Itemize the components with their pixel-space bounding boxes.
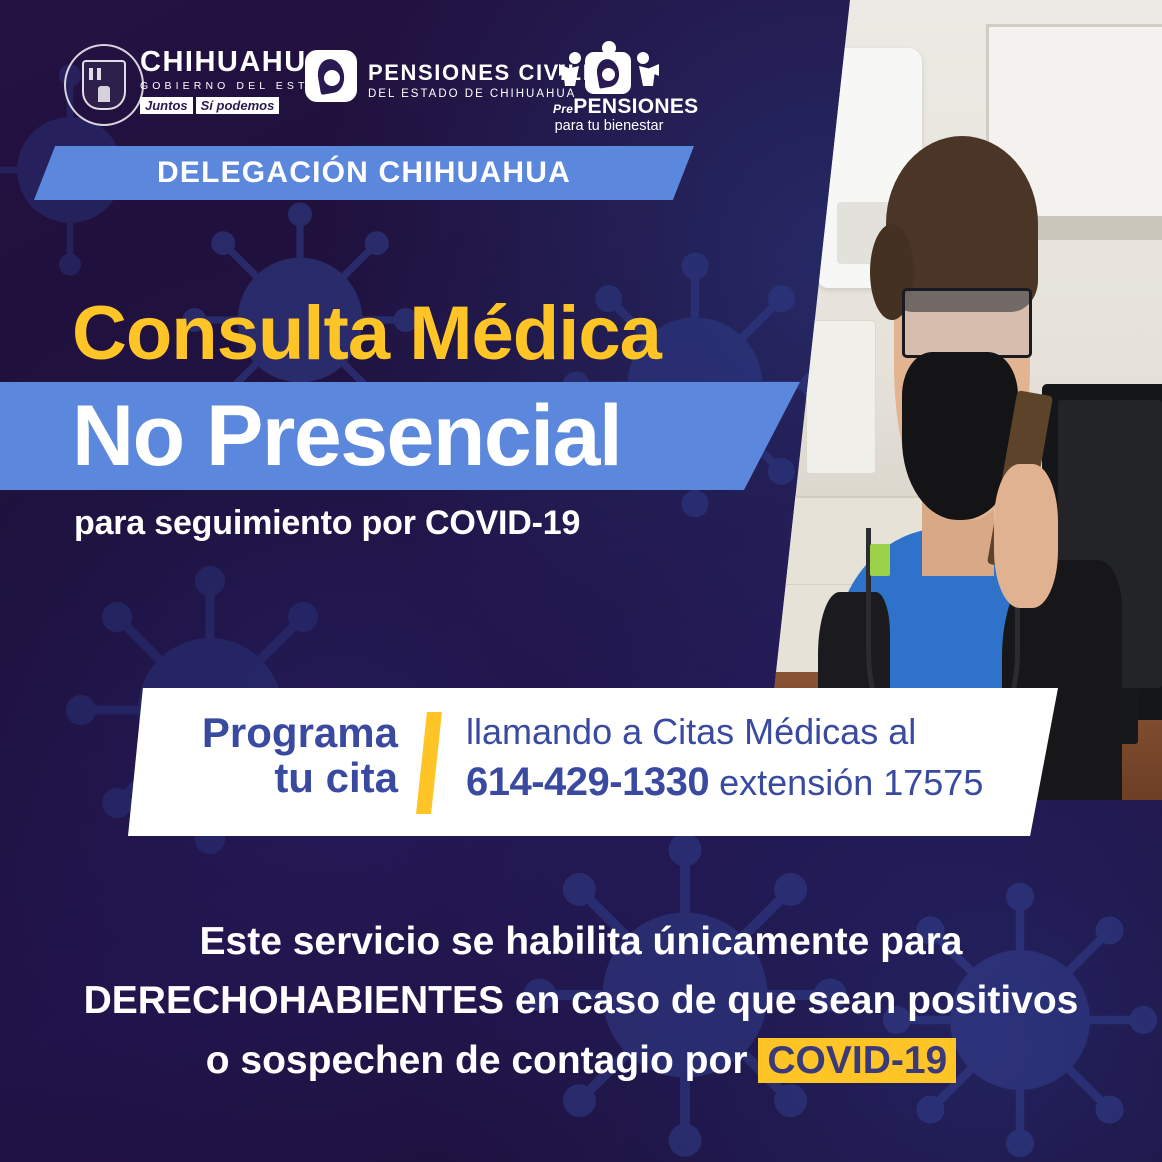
footer-covid-highlight: COVID-19 [758, 1038, 956, 1083]
chihuahua-coat-of-arms-icon [64, 44, 144, 126]
prepensiones-prefix: Pre [553, 102, 573, 116]
logo-bar: CHIHUAHUA GOBIERNO DEL ESTADO Juntos Sí … [0, 0, 1162, 130]
footer-line3-pre: o sospechen de contagio por [206, 1039, 748, 1082]
cta-instruction: llamando a Citas Médicas al [466, 712, 983, 752]
gov-slogan-1: Juntos [140, 97, 193, 114]
footer-line2: DERECHOHABIENTES en caso de que sean pos… [0, 971, 1162, 1030]
gov-slogan-2: Sí podemos [196, 97, 280, 114]
cta-phone-number[interactable]: 614-429-1330 [466, 760, 709, 804]
headline-subtitle: para seguimiento por COVID-19 [74, 504, 580, 543]
prepensiones-logo: PrePENSIONES para tu bienestar [553, 40, 665, 128]
cta-left-line2: tu cita [168, 755, 398, 800]
headline-band: No Presencial [0, 382, 800, 490]
prepensiones-title: PENSIONES [573, 95, 698, 118]
headline-line2: No Presencial [72, 393, 621, 479]
pensiones-drop-icon [305, 50, 357, 102]
footer-note: Este servicio se habilita únicamente par… [0, 912, 1162, 1090]
footer-line1: Este servicio se habilita únicamente par… [0, 912, 1162, 971]
prepensiones-tagline: para tu bienestar [553, 118, 665, 134]
appointment-callout: Programa tu cita llamando a Citas Médica… [128, 688, 1058, 836]
delegation-banner: DELEGACIÓN CHIHUAHUA [34, 146, 694, 200]
poster: CHIHUAHUA GOBIERNO DEL ESTADO Juntos Sí … [0, 0, 1162, 1162]
cta-extension: extensión 17575 [719, 762, 983, 803]
delegation-banner-label: DELEGACIÓN CHIHUAHUA [157, 156, 571, 190]
cta-right-text: llamando a Citas Médicas al 614-429-1330… [466, 712, 983, 806]
cta-left-text: Programa tu cita [168, 710, 398, 801]
yellow-slash-icon [416, 712, 442, 814]
cta-left-line1: Programa [168, 710, 398, 755]
headline-line1: Consulta Médica [72, 296, 661, 372]
